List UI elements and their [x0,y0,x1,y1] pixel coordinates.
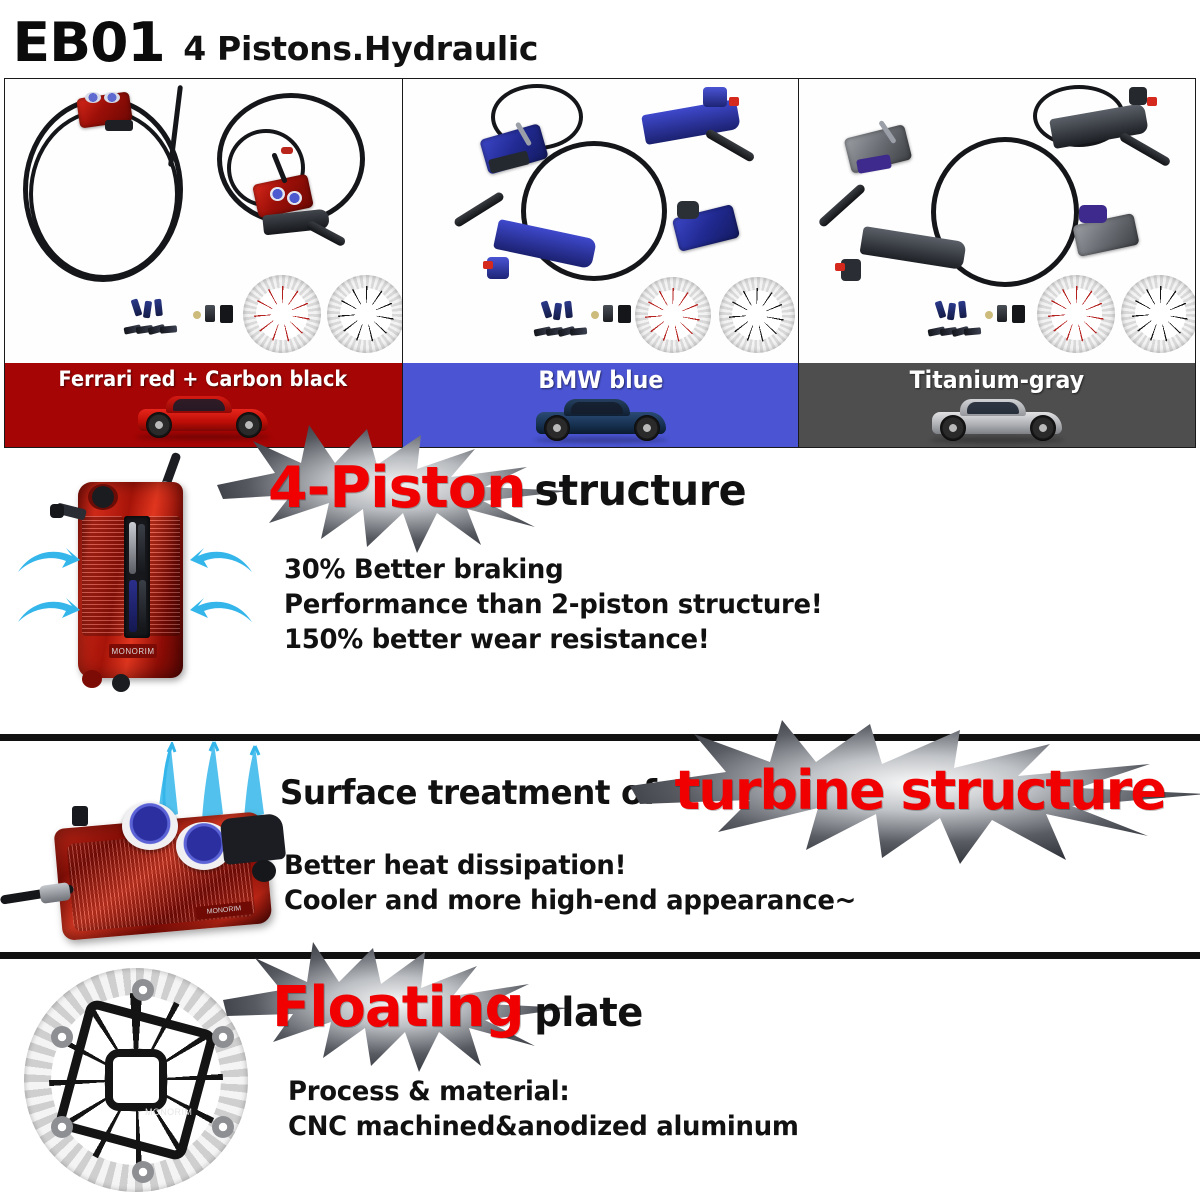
rotor-brand-mark: MONORIM [145,1107,192,1117]
feature-body-line: CNC machined&anodized aluminum [288,1109,1156,1144]
piston-force-arrow-right-bottom [188,596,254,630]
product-infographic: EB01 4 Pistons.Hydraulic [0,0,1200,1200]
rotor-black [1121,275,1195,353]
feature-section-floating-plate: MONORIM [0,962,1200,1200]
variant-photo-ferrari-red [5,79,402,363]
feature-body-line: Performance than 2-piston structure! [284,587,1152,622]
page-header: EB01 4 Pistons.Hydraulic [0,0,1200,74]
variant-label-titanium-gray: Titanium-gray [799,363,1195,447]
piston-force-arrow-left-top [16,546,82,580]
heat-flow-arrow-3 [238,742,272,820]
rotor-black [327,275,402,353]
variant-label-text: Titanium-gray [910,368,1085,393]
feature-headline-plain: Surface treatment of [280,776,657,810]
variant-panel-bmw-blue[interactable]: BMW blue [402,79,799,447]
feature-body-line: Cooler and more high-end appearance~ [284,883,1163,918]
piston-force-arrow-left-bottom [16,596,82,630]
rotor-black [719,277,795,353]
feature-body-line: Process & material: [288,1074,1156,1109]
section-divider [0,952,1200,959]
caliper-brand-mark: MONORIM [206,905,241,916]
feature-image-floating-rotor: MONORIM [24,968,254,1198]
page-subtitle: 4 Pistons.Hydraulic [183,32,538,65]
feature-body-line: 150% better wear resistance! [284,622,1152,657]
car-icon-titanium [922,395,1072,443]
feature-section-four-piston: MONORIM [0,452,1200,734]
feature-image-turbine-caliper: MONORIM [0,744,300,950]
variant-photo-titanium-gray [799,79,1195,363]
variant-panel-titanium-gray[interactable]: Titanium-gray [798,79,1195,447]
heat-flow-arrow-2 [196,738,230,820]
feature-body-line: 30% Better braking [284,552,1152,587]
rotor-red [1037,275,1115,353]
rotor-red [243,275,321,353]
starburst-badge-floating: Floating [272,980,524,1036]
feature-headline-accent: turbine structure [674,759,1164,822]
feature-section-turbine: MONORIM Surface treatment of [0,744,1200,952]
feature-headline-accent: 4-Piston [268,455,526,521]
feature-headline-four-piston: 4-Piston structure [268,460,1188,517]
page-title: EB01 [13,16,165,70]
starburst-badge-four-piston: 4-Piston [268,460,526,517]
feature-headline-floating-plate: Floating plate [272,980,1192,1036]
variant-gallery: Ferrari red + Carbon black [4,78,1196,448]
caliper-brand-mark: MONORIM [111,647,154,656]
variant-label-text: BMW blue [538,368,663,393]
feature-headline-accent: Floating [272,975,524,1040]
starburst-badge-turbine: turbine structure [674,764,1164,818]
variant-panel-ferrari-red[interactable]: Ferrari red + Carbon black [5,79,402,447]
feature-text-turbine: Surface treatment of [272,764,1200,918]
variant-label-text: Ferrari red + Carbon black [59,368,348,390]
feature-text-floating-plate: Floating plate Process & material: CNC m… [272,980,1192,1144]
feature-headline-turbine: Surface treatment of [272,764,1200,818]
feature-text-four-piston: 4-Piston structure 30% Better braking Pe… [268,460,1188,657]
feature-headline-plain: structure [534,470,746,513]
rotor-red [635,277,711,353]
feature-headline-plain: plate [534,993,643,1033]
feature-body-line: Better heat dissipation! [284,848,1163,883]
variant-photo-bmw-blue [403,79,799,363]
